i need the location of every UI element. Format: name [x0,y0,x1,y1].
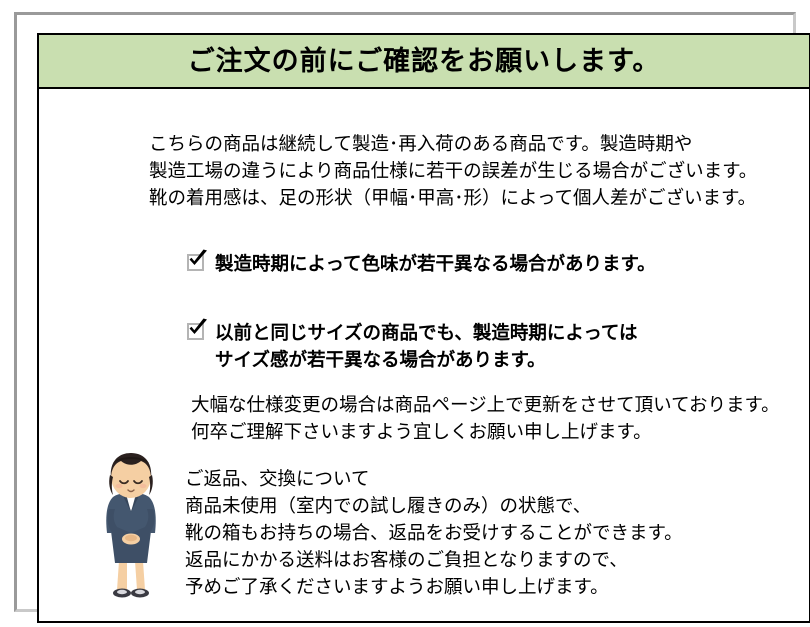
intro-line-1: こちらの商品は継続して製造･再入荷のある商品です。製造時期や [149,130,757,157]
checkbox-checked-icon [187,254,204,271]
notice-panel: ご注文の前にご確認をお願いします。 こちらの商品は継続して製造･再入荷のある商品… [37,33,810,623]
checkbox-checked-icon [187,323,204,340]
update-line-2: 何卒ご理解下さいますよう宜しくお願い申し上げます。 [191,418,780,445]
checklist-item-1-text: 製造時期によって色味が若干異なる場合があります。 [215,250,656,277]
bowing-woman-illustration [77,453,185,613]
page-title: ご注文の前にご確認をお願いします。 [188,48,661,75]
intro-line-2: 製造工場の違うにより商品仕様に若干の誤差が生じる場合がございます。 [149,157,757,184]
spec-update-paragraph: 大幅な仕様変更の場合は商品ページ上で更新をさせて頂いております。 何卒ご理解下さ… [191,391,780,445]
intro-line-3: 靴の着用感は、足の形状（甲幅･甲高･形）によって個人差がございます。 [149,184,757,211]
returns-line-2: 商品未使用（室内での試し履きのみ）の状態で、 [185,492,683,519]
returns-line-3: 靴の箱もお持ちの場合、返品をお受けすることができます。 [185,519,683,546]
returns-line-4: 返品にかかる送料はお客様のご負担となりますので、 [185,546,683,573]
update-line-1: 大幅な仕様変更の場合は商品ページ上で更新をさせて頂いております。 [191,391,780,418]
checklist-item-size-variation: 以前と同じサイズの商品でも、製造時期によっては サイズ感が若干異なる場合がありま… [187,319,809,373]
checklist-item-1-line-1: 製造時期によって色味が若干異なる場合があります。 [215,253,656,274]
checklist-item-2-text: 以前と同じサイズの商品でも、製造時期によっては サイズ感が若干異なる場合がありま… [215,319,809,373]
checklist-item-color-variation: 製造時期によって色味が若干異なる場合があります。 [187,250,656,277]
returns-line-1: ご返品、交換について [185,465,683,492]
notice-header-band: ご注文の前にご確認をお願いします。 [39,35,809,89]
notice-body: こちらの商品は継続して製造･再入荷のある商品です。製造時期や 製造工場の違うによ… [39,91,809,621]
checklist-item-2-line-2: サイズ感が若干異なる場合があります。 [215,349,546,370]
notice-outer-frame: ご注文の前にご確認をお願いします。 こちらの商品は継続して製造･再入荷のある商品… [14,12,796,612]
intro-paragraph: こちらの商品は継続して製造･再入荷のある商品です。製造時期や 製造工場の違うによ… [149,130,757,211]
returns-policy-paragraph: ご返品、交換について 商品未使用（室内での試し履きのみ）の状態で、 靴の箱もお持… [185,465,683,600]
checklist-item-2-line-1: 以前と同じサイズの商品でも、製造時期によっては [215,322,638,343]
returns-line-5: 予めご了承くださいますようお願い申し上げます。 [185,573,683,600]
